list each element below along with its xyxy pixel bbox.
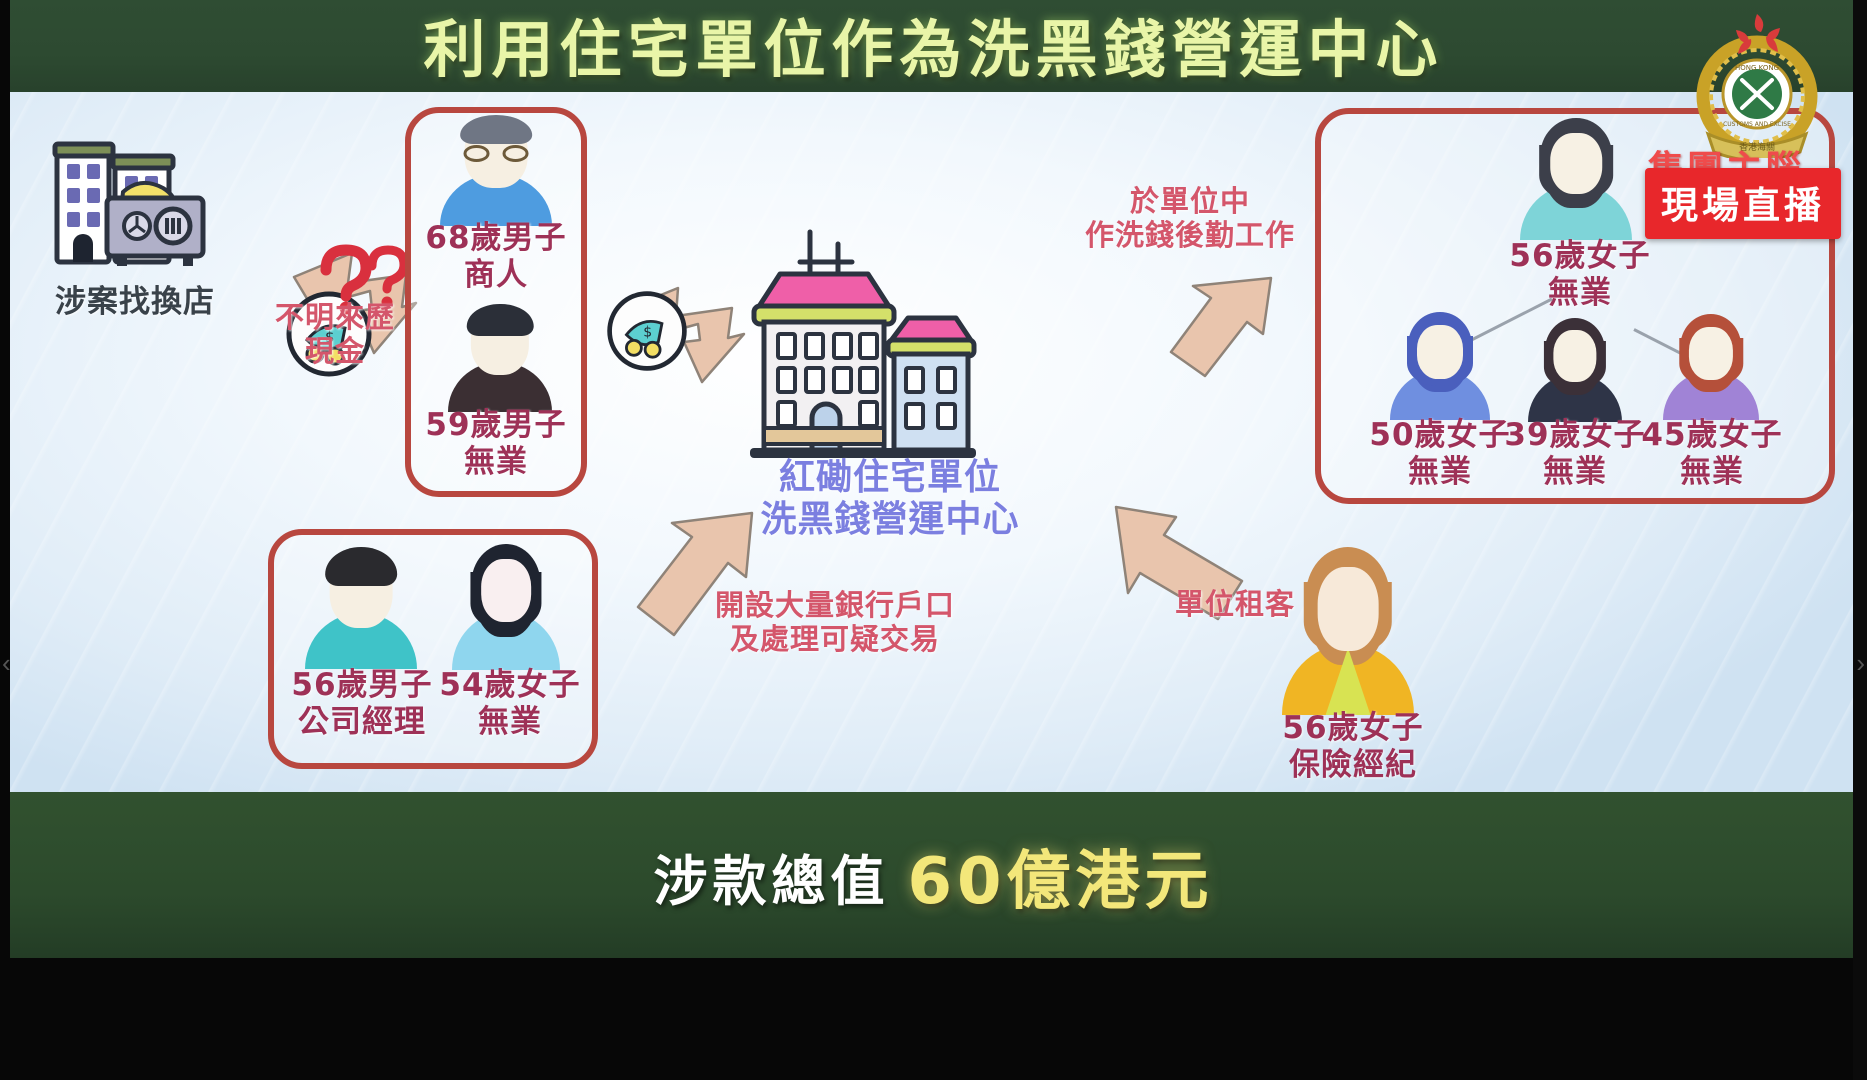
man-dark-suit-avatar xyxy=(448,304,552,412)
woman-light-blue-avatar xyxy=(452,544,560,670)
unknown-cash-label: 不明來歷 現金 xyxy=(245,300,425,368)
amount-value: 60億港元 xyxy=(907,830,1213,922)
svg-text:HONG KONG: HONG KONG xyxy=(1735,64,1779,72)
person-label-59: 59歲男子 無業 xyxy=(405,407,587,480)
svg-text:$: $ xyxy=(643,325,652,341)
broadcast-screen: 利用住宅單位作為洗黑錢營運中心 xyxy=(0,0,1867,1080)
screen-bezel-right xyxy=(1853,0,1867,1080)
flow-logistics-label: 於單位中 作洗錢後勤工作 xyxy=(1040,184,1340,252)
woman-yellow-jacket-avatar xyxy=(1282,547,1414,715)
center-unit-label: 紅磡住宅單位 洗黑錢營運中心 xyxy=(740,457,1040,542)
woman-long-dark-hair-avatar xyxy=(1520,118,1632,240)
title-bar: 利用住宅單位作為洗黑錢營運中心 xyxy=(0,0,1867,98)
right-chevron-icon: › xyxy=(1856,648,1865,679)
peach-arrow-down-left xyxy=(1135,272,1275,392)
woman-blue-hair-avatar xyxy=(1390,312,1490,420)
screen-bezel-left xyxy=(0,0,10,1080)
infographic-board: 涉案找換店 $ xyxy=(0,92,1867,792)
residential-building-icon xyxy=(740,222,980,472)
person-label-54: 54歲女子 無業 xyxy=(420,667,600,740)
svg-text:CUSTOMS AND EXCISE: CUSTOMS AND EXCISE xyxy=(1723,121,1791,128)
elderly-man-with-glasses-avatar xyxy=(440,114,552,226)
magnifier-over-cash-icon-2: $ xyxy=(604,288,690,374)
total-amount-banner: 涉款總值 60億港元 xyxy=(0,792,1867,960)
live-broadcast-badge[interactable]: 現場直播 xyxy=(1645,168,1841,239)
man-teal-shirt-avatar xyxy=(305,547,417,669)
page-title: 利用住宅單位作為洗黑錢營運中心 xyxy=(0,6,1867,94)
flow-bank-accounts-label: 開設大量銀行戶口 及處理可疑交易 xyxy=(670,588,1000,656)
screenshot-root: 利用住宅單位作為洗黑錢營運中心 xyxy=(0,0,1867,1080)
screen-bezel-bottom xyxy=(0,958,1867,1080)
left-chevron-icon: ‹ xyxy=(2,648,11,679)
person-label-68: 68歲男子 商人 xyxy=(405,220,587,293)
hk-customs-crest-icon: HONG KONG CUSTOMS AND EXCISE 香港海關 xyxy=(1692,8,1822,158)
exchange-shop-label: 涉案找換店 xyxy=(25,284,245,321)
person-label-56-leader: 56歲女子 無業 xyxy=(1460,238,1700,311)
amount-prefix: 涉款總值 xyxy=(653,837,889,916)
person-label-56-insurance: 56歲女子 保險經紀 xyxy=(1248,710,1458,783)
woman-red-hair-avatar xyxy=(1663,314,1759,420)
buildings-and-safe-icon xyxy=(45,132,225,272)
woman-black-hair-avatar xyxy=(1528,318,1622,422)
person-label-45: 45歲女子 無業 xyxy=(1602,417,1822,490)
